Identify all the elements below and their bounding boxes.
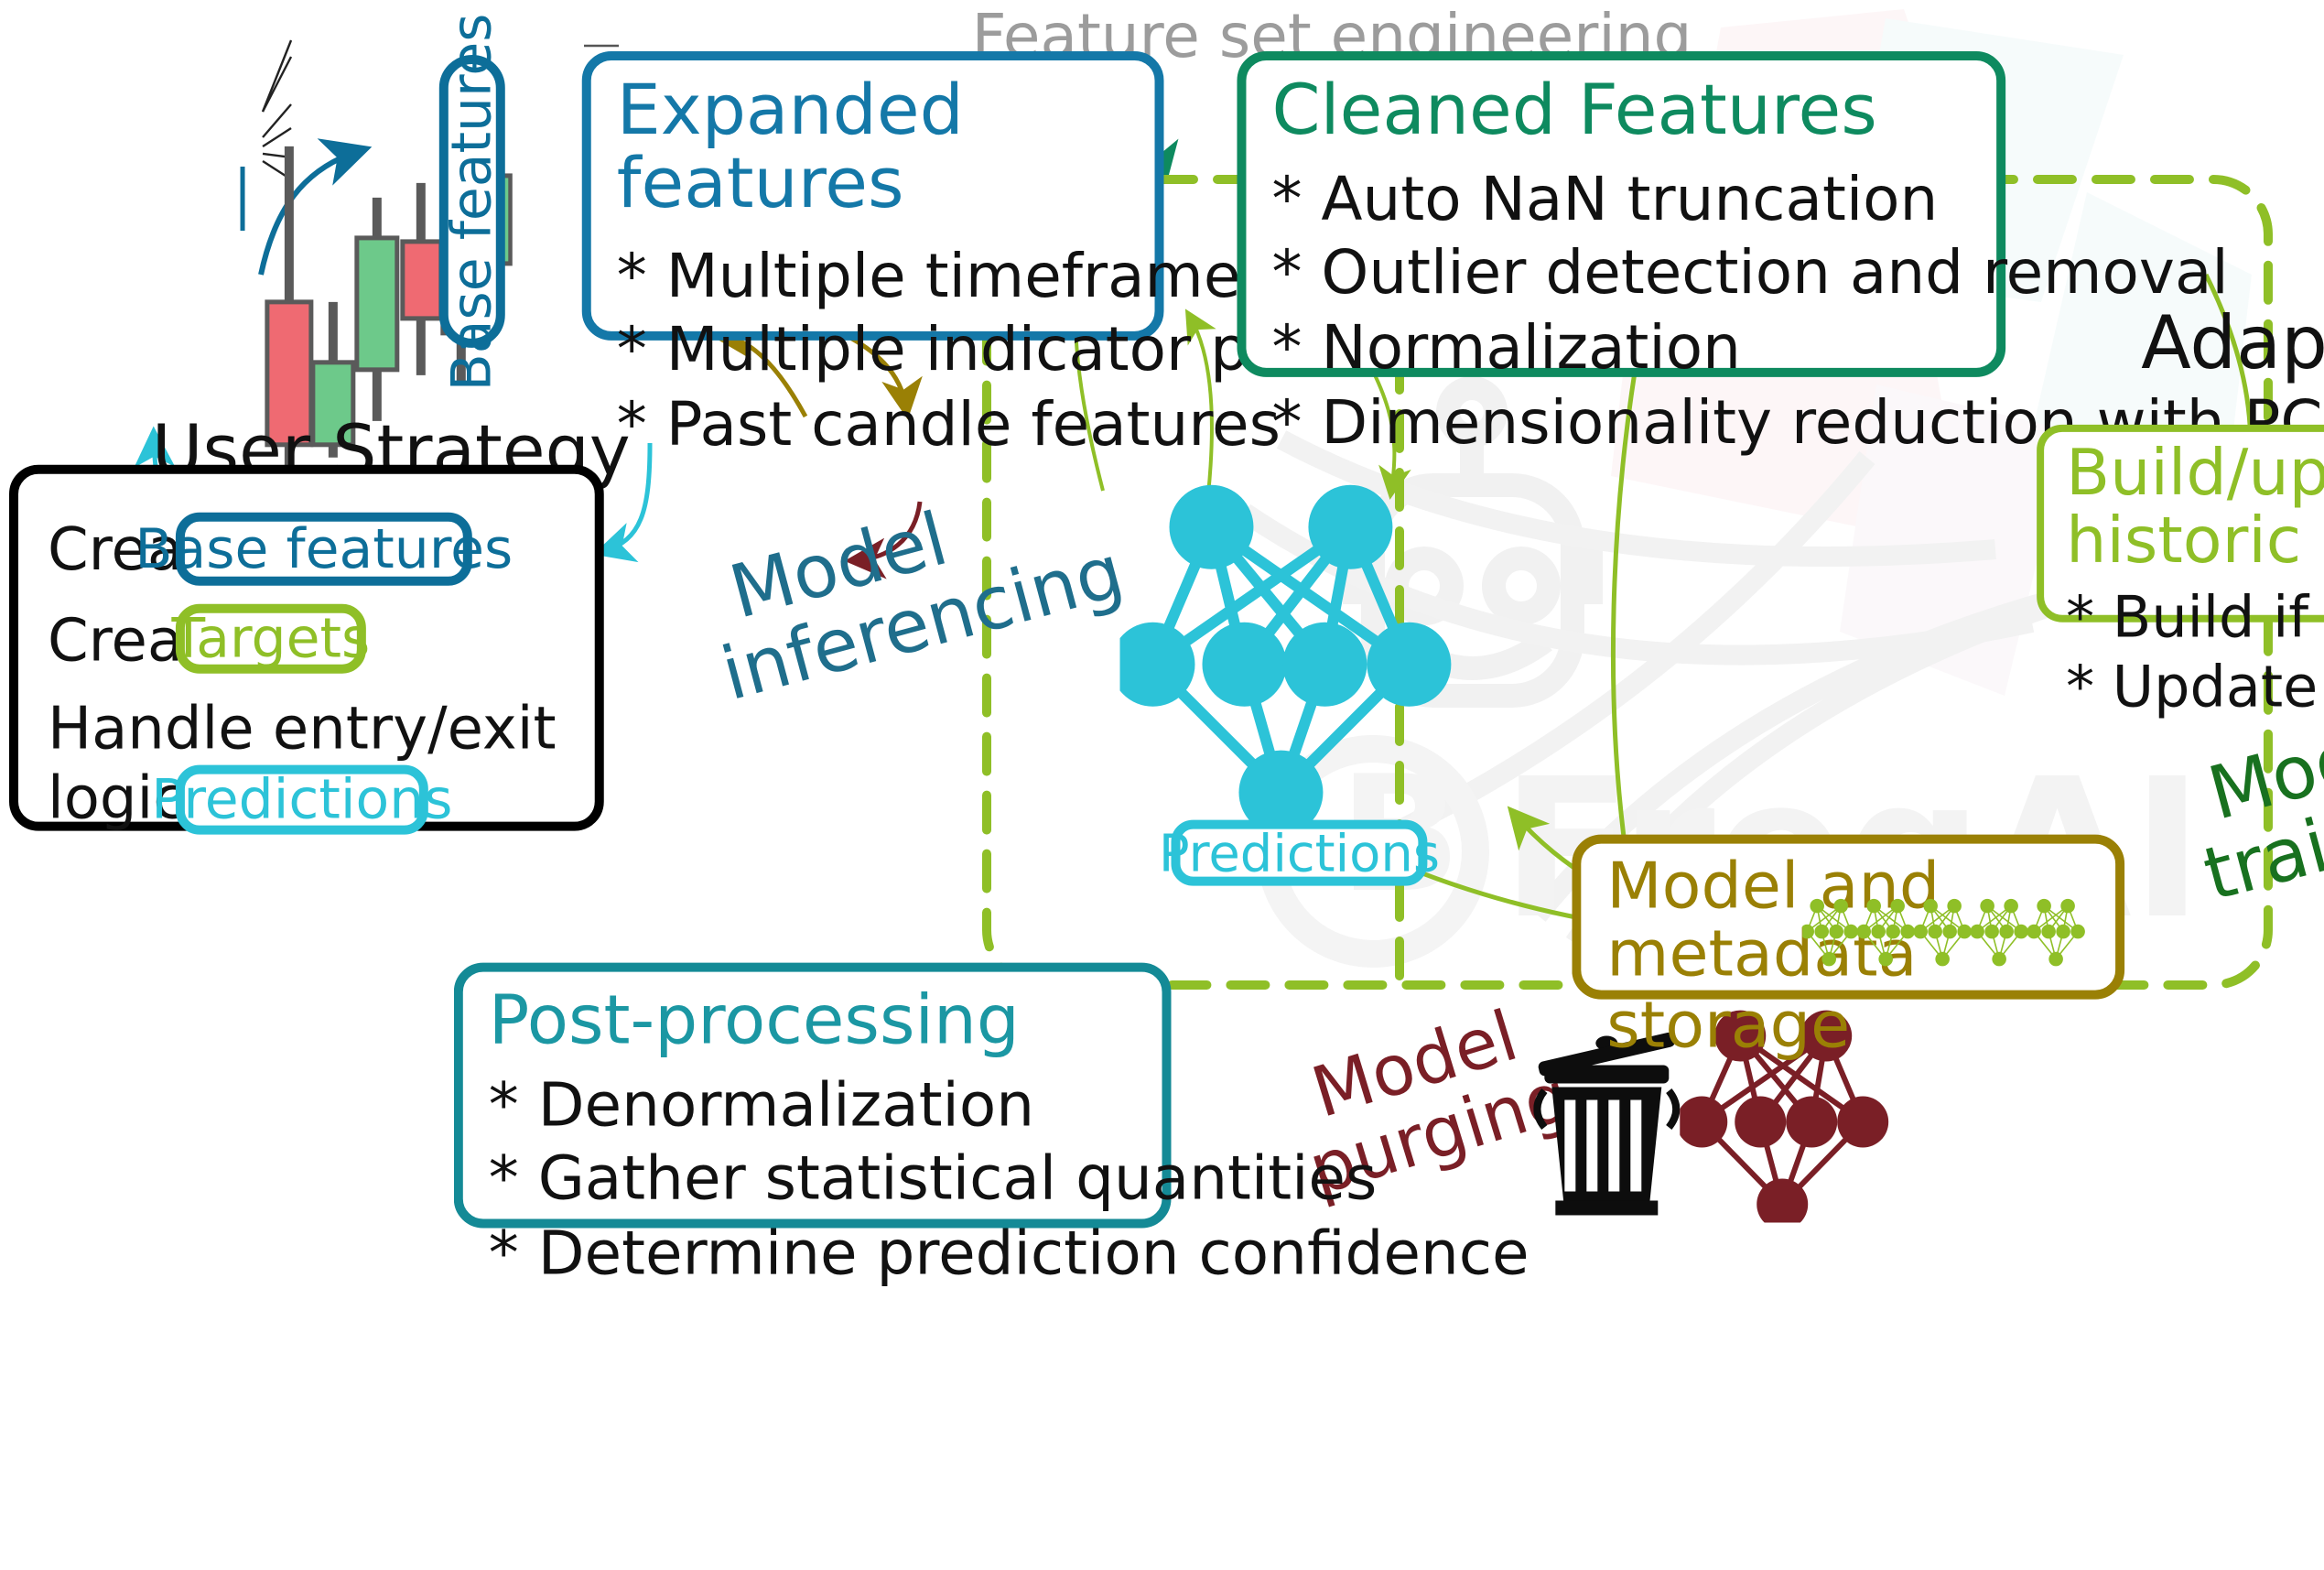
cleaned-features-item: * Auto NaN truncation bbox=[1271, 163, 1996, 237]
user-strategy-predictions-pill[interactable]: Predictions bbox=[176, 765, 428, 835]
build-update-item: * Build if first training bbox=[2066, 583, 2324, 653]
build-update-historic-data-box[interactable]: Build/update historic data * Build if fi… bbox=[2037, 425, 2324, 623]
expanded-features-box[interactable]: Expanded features * Multiple timeframes … bbox=[582, 51, 1164, 341]
model-training-label: Model training bbox=[2201, 693, 2324, 908]
expanded-features-item: * Multiple timeframes bbox=[617, 239, 1155, 313]
user-strategy-targets-label: Targets bbox=[171, 607, 370, 671]
post-processing-title: Post-processing bbox=[463, 972, 1162, 1062]
inference-neural-network bbox=[1120, 472, 1468, 829]
model-inferencing-label: Model inferencing bbox=[723, 460, 1131, 707]
predictions-pill[interactable]: Predictions bbox=[1171, 820, 1427, 886]
cleaned-features-item: * Outlier detection and removal bbox=[1271, 237, 1996, 311]
user-strategy-base-features-label: Base features bbox=[135, 517, 513, 581]
post-processing-item: * Gather statistical quantities bbox=[489, 1142, 1162, 1217]
predictions-label: Predictions bbox=[1159, 823, 1440, 883]
user-strategy-predictions-label: Predictions bbox=[151, 768, 452, 832]
cleaned-features-title: Cleaned Features bbox=[1246, 60, 1996, 156]
adaptive-learning-label: Adaptive learning bbox=[2141, 302, 2324, 386]
cleaned-features-item: * Dimensionality reduction with PCA bbox=[1271, 385, 1996, 460]
expanded-features-item: * Multiple indicator periods bbox=[617, 314, 1155, 388]
expanded-features-title: Expanded features bbox=[591, 60, 1155, 228]
user-strategy-targets-pill[interactable]: Targets bbox=[176, 604, 366, 674]
cleaned-features-box[interactable]: Cleaned Features * Auto NaN truncation *… bbox=[1237, 51, 2005, 377]
expanded-features-item: * Past candle features bbox=[617, 388, 1155, 462]
build-update-item: * Update each retraining bbox=[2066, 653, 2324, 722]
freqai-architecture-diagram: B FreqAI bbox=[0, 0, 2324, 1011]
user-strategy-base-features-pill[interactable]: Base features bbox=[176, 513, 472, 586]
base-features-vertical-label: Base features bbox=[440, 12, 504, 390]
build-update-title: Build/update historic data bbox=[2044, 432, 2324, 579]
post-processing-item: * Determine prediction confidence bbox=[489, 1217, 1162, 1291]
stored-models-mini-networks bbox=[1802, 893, 2110, 978]
post-processing-item: * Denormalization bbox=[489, 1068, 1162, 1142]
base-features-vertical-pill[interactable]: Base features bbox=[439, 55, 505, 348]
model-storage-title-line2: storage bbox=[1581, 990, 2115, 1060]
post-processing-box[interactable]: Post-processing * Denormalization * Gath… bbox=[454, 963, 1172, 1229]
cleaned-features-item: * Normalization bbox=[1271, 311, 1996, 385]
